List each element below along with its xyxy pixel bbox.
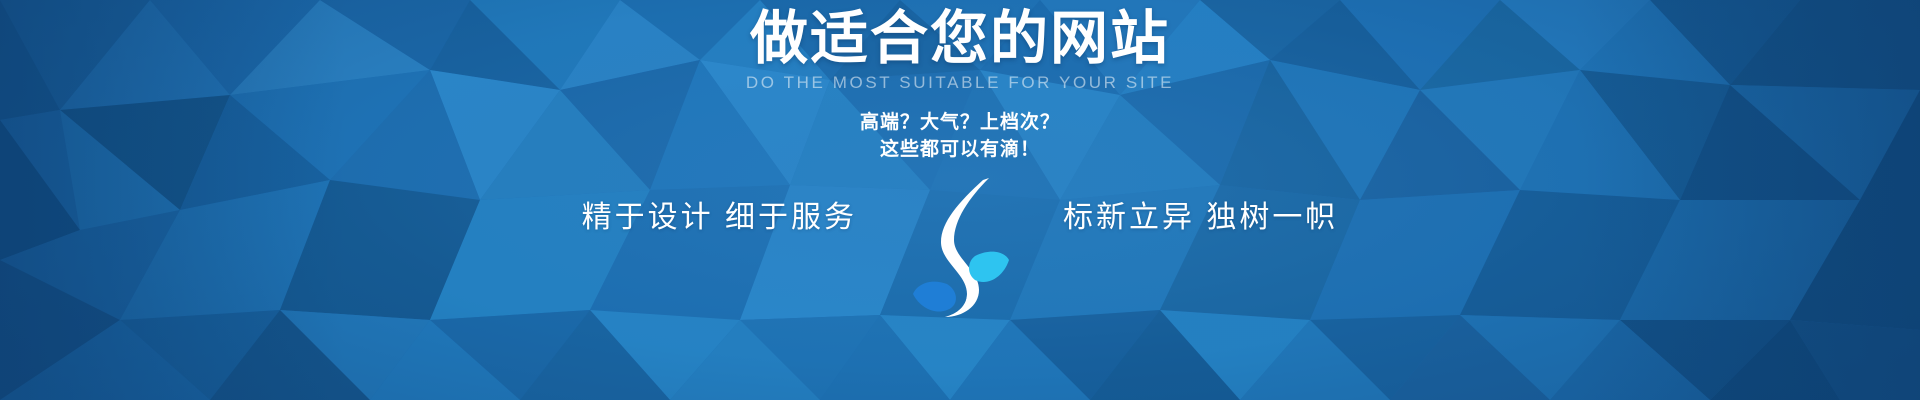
banner-subtitle-english: DO THE MOST SUITABLE FOR YOUR SITE xyxy=(746,73,1174,93)
slogan-row: 精于设计 细于服务 标新立异 独树一帜 xyxy=(0,178,1920,318)
hero-banner: 做适合您的网站 DO THE MOST SUITABLE FOR YOUR SI… xyxy=(0,0,1920,400)
banner-tagline: 高端？大气？上档次？ 这些都可以有滴！ xyxy=(860,109,1060,164)
slogan-left: 精于设计 细于服务 xyxy=(582,192,857,236)
tagline-line-2: 这些都可以有滴！ xyxy=(860,136,1060,164)
banner-headline: 做适合您的网站 xyxy=(750,8,1170,71)
tagline-line-1: 高端？大气？上档次？ xyxy=(860,109,1060,137)
slogan-right: 标新立异 独树一帜 xyxy=(1063,192,1338,236)
swoosh-leaf-logo xyxy=(905,178,1015,318)
